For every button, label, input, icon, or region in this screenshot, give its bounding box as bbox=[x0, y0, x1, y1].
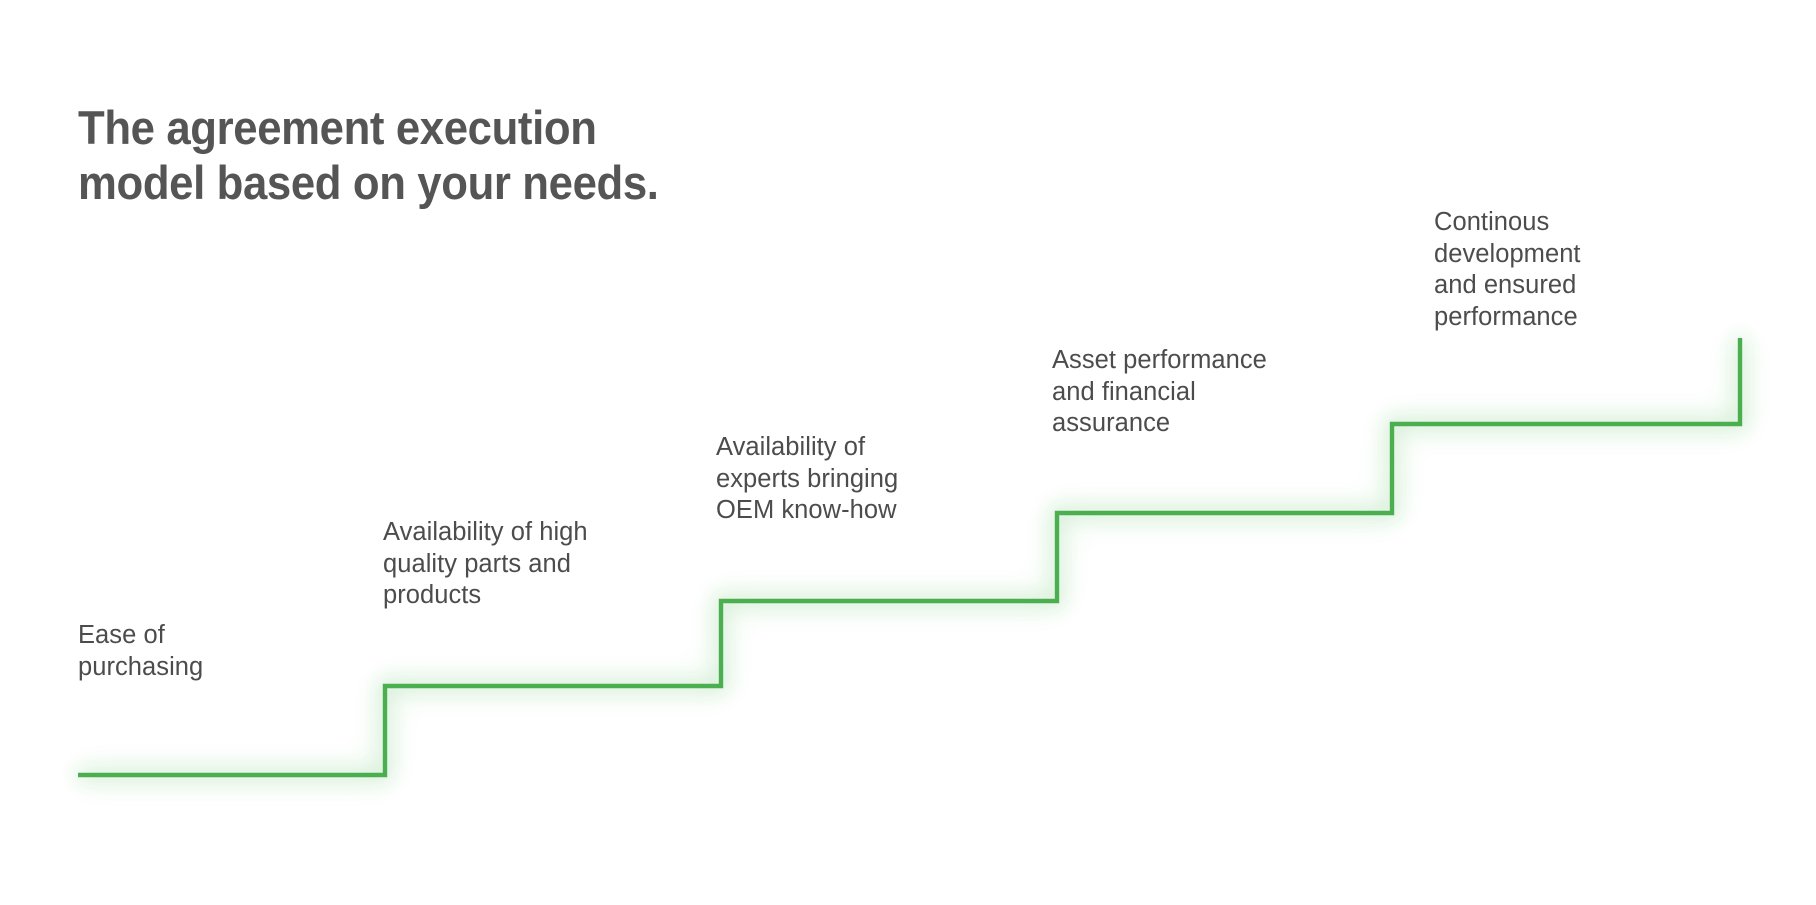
step-label-oem-experts: Availability of experts bringing OEM kno… bbox=[716, 432, 986, 527]
step-label-continuous-development: Continous development and ensured perfor… bbox=[1434, 207, 1649, 333]
step-label-ease-of-purchasing: Ease of purchasing bbox=[78, 620, 328, 683]
step-label-asset-performance: Asset performance and financial assuranc… bbox=[1052, 345, 1382, 440]
slide-canvas: The agreement execution model based on y… bbox=[0, 0, 1816, 905]
staircase-glow bbox=[78, 338, 1740, 775]
step-label-quality-parts: Availability of high quality parts and p… bbox=[383, 517, 683, 612]
staircase-line bbox=[78, 338, 1740, 775]
page-title: The agreement execution model based on y… bbox=[78, 100, 841, 211]
